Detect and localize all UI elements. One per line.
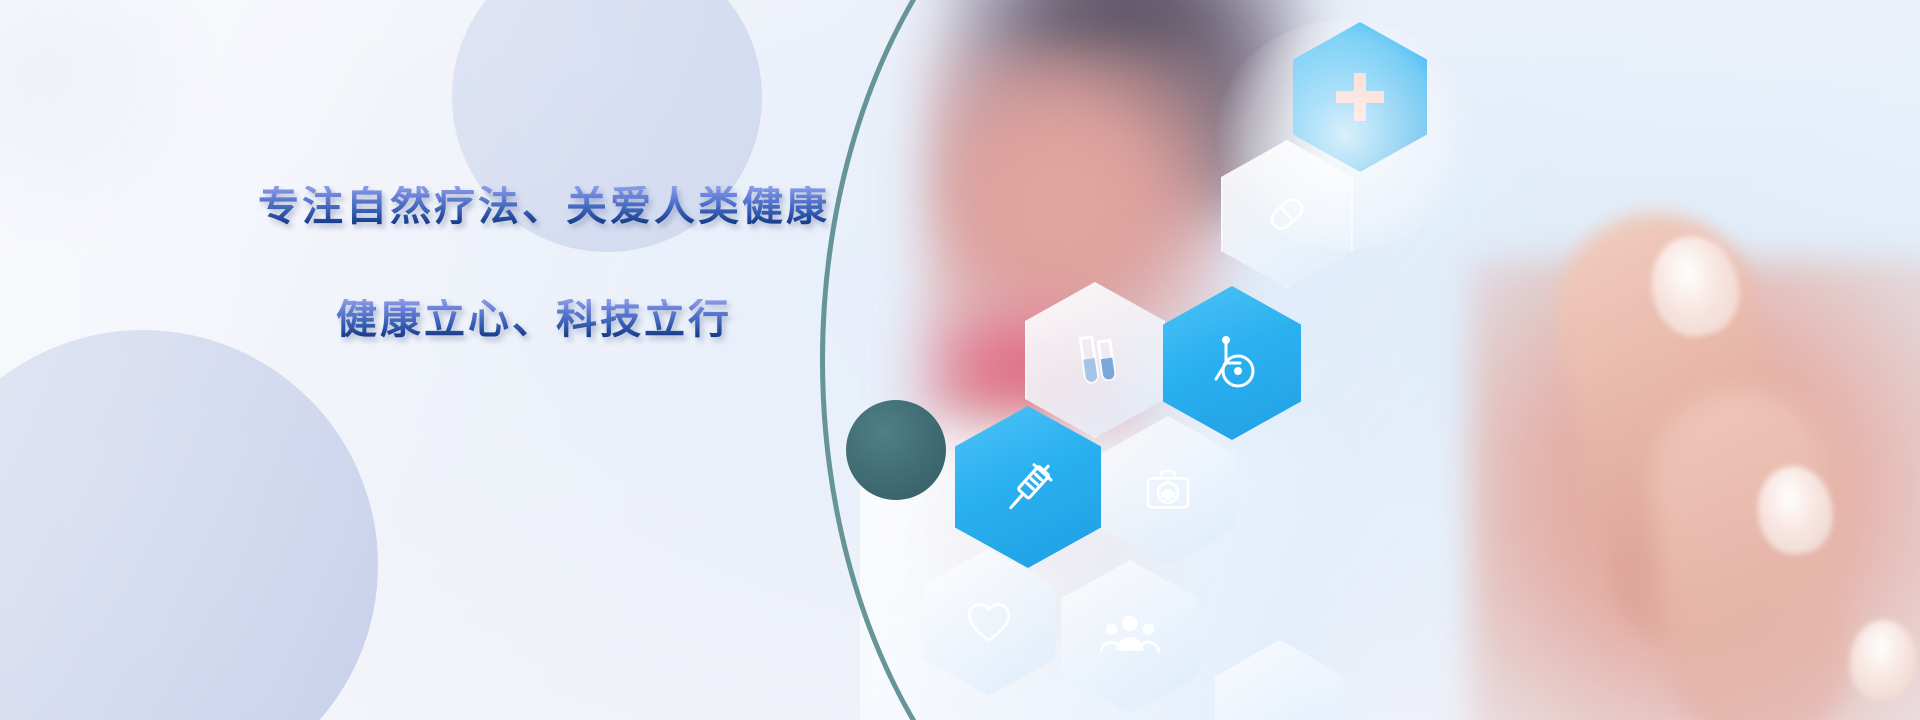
test-tube-icon bbox=[1064, 329, 1126, 391]
hex-heart[interactable] bbox=[923, 548, 1055, 696]
hex-empty-node[interactable] bbox=[1215, 640, 1345, 720]
headline-block: 专注自然疗法、关爱人类健康 健康立心、科技立行 bbox=[258, 186, 878, 340]
hex-test-tubes[interactable] bbox=[1025, 282, 1165, 438]
hex-people[interactable] bbox=[1061, 560, 1199, 714]
briefcase-icon bbox=[1139, 462, 1197, 520]
hex-syringe[interactable] bbox=[955, 406, 1101, 568]
headline-line-2: 健康立心、科技立行 bbox=[336, 299, 878, 340]
people-icon bbox=[1099, 606, 1161, 668]
wheelchair-icon bbox=[1200, 331, 1264, 395]
cross-icon bbox=[1328, 65, 1392, 129]
syringe-icon bbox=[995, 454, 1061, 520]
hex-pill[interactable] bbox=[1221, 140, 1353, 288]
pill-icon bbox=[1257, 184, 1317, 244]
hex-medical-cross[interactable] bbox=[1293, 22, 1427, 172]
headline-line-1: 专注自然疗法、关爱人类健康 bbox=[258, 186, 878, 227]
medical-hexagon-cluster bbox=[915, 0, 1535, 720]
hero-banner: 专注自然疗法、关爱人类健康 健康立心、科技立行 bbox=[0, 0, 1920, 720]
heart-icon bbox=[960, 593, 1018, 651]
decorative-circle-faint bbox=[0, 0, 220, 260]
decorative-circle-bottom bbox=[0, 330, 378, 720]
hex-first-aid-kit[interactable] bbox=[1101, 416, 1235, 566]
hex-wheelchair[interactable] bbox=[1163, 286, 1301, 440]
